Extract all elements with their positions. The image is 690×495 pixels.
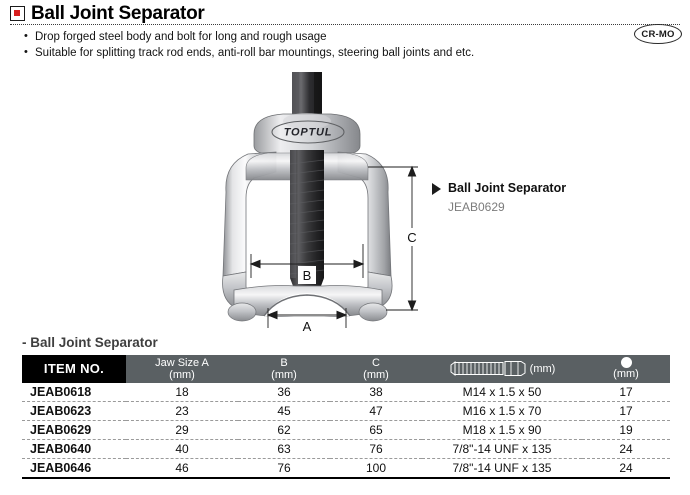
- cell-item-no: JEAB0623: [22, 402, 126, 421]
- column-header-b-label: B: [238, 357, 330, 369]
- ball-joint-separator-illustration: TOPTUL: [190, 72, 460, 334]
- feature-item: Drop forged steel body and bolt for long…: [24, 29, 624, 45]
- callout-product-code: JEAB0629: [448, 199, 566, 215]
- cell-jaw-size: 40: [126, 440, 238, 459]
- cell-hex: 24: [582, 459, 670, 478]
- svg-text:A: A: [303, 319, 312, 334]
- svg-text:C: C: [407, 230, 416, 245]
- cell-b: 76: [238, 459, 330, 478]
- table-row[interactable]: JEAB0646 46 76 100 7/8"-14 UNF x 135 24: [22, 459, 670, 478]
- cell-jaw-size: 29: [126, 421, 238, 440]
- cell-jaw-size: 23: [126, 402, 238, 421]
- threaded-bolt-icon: [449, 361, 527, 376]
- triangle-right-icon: [432, 183, 441, 195]
- cell-thread: 7/8"-14 UNF x 135: [422, 459, 582, 478]
- spec-table-section: - Ball Joint Separator ITEM NO. Jaw Size…: [22, 336, 670, 479]
- table-row[interactable]: JEAB0623 23 45 47 M16 x 1.5 x 70 17: [22, 402, 670, 421]
- product-figure: TOPTUL: [190, 72, 460, 334]
- cell-hex: 17: [582, 383, 670, 402]
- cell-jaw-size: 18: [126, 383, 238, 402]
- cell-b: 36: [238, 383, 330, 402]
- cell-jaw-size: 46: [126, 459, 238, 478]
- page-title: Ball Joint Separator: [31, 4, 205, 23]
- cell-b: 63: [238, 440, 330, 459]
- cell-c: 65: [330, 421, 422, 440]
- column-header-b-unit: (mm): [238, 369, 330, 381]
- cell-hex: 19: [582, 421, 670, 440]
- column-header-item-no: ITEM NO.: [22, 355, 126, 383]
- table-body: JEAB0618 18 36 38 M14 x 1.5 x 50 17 JEAB…: [22, 383, 670, 478]
- spec-table: ITEM NO. Jaw Size A (mm) B (mm) C (mm): [22, 355, 670, 479]
- material-badge: CR-MO: [634, 24, 682, 44]
- callout-text: Ball Joint Separator JEAB0629: [448, 180, 566, 215]
- cell-c: 38: [330, 383, 422, 402]
- hex-circle-icon: [621, 357, 632, 368]
- column-header-hex: (mm): [582, 355, 670, 383]
- column-header-thread-unit: (mm): [530, 363, 556, 375]
- tool-shank: [292, 72, 322, 120]
- title-divider: [10, 24, 680, 25]
- table-header-row: ITEM NO. Jaw Size A (mm) B (mm) C (mm): [22, 355, 670, 383]
- table-caption: - Ball Joint Separator: [22, 336, 670, 351]
- feature-item: Suitable for splitting track rod ends, a…: [24, 45, 624, 61]
- cell-c: 76: [330, 440, 422, 459]
- cell-hex: 17: [582, 402, 670, 421]
- column-header-jaw-size: Jaw Size A (mm): [126, 355, 238, 383]
- cell-c: 47: [330, 402, 422, 421]
- cell-thread: M14 x 1.5 x 50: [422, 383, 582, 402]
- column-header-b: B (mm): [238, 355, 330, 383]
- column-header-thread: (mm): [422, 355, 582, 383]
- feature-list: Drop forged steel body and bolt for long…: [24, 29, 624, 61]
- column-header-c: C (mm): [330, 355, 422, 383]
- cell-item-no: JEAB0618: [22, 383, 126, 402]
- table-row[interactable]: JEAB0640 40 63 76 7/8"-14 UNF x 135 24: [22, 440, 670, 459]
- cell-b: 45: [238, 402, 330, 421]
- column-header-c-label: C: [330, 357, 422, 369]
- product-callout: Ball Joint Separator JEAB0629: [432, 180, 566, 215]
- red-square-icon: [10, 6, 25, 21]
- column-header-hex-unit: (mm): [613, 369, 639, 380]
- cell-item-no: JEAB0640: [22, 440, 126, 459]
- column-header-jaw-size-label: Jaw Size A: [126, 357, 238, 369]
- column-header-c-unit: (mm): [330, 369, 422, 381]
- cell-c: 100: [330, 459, 422, 478]
- cell-item-no: JEAB0629: [22, 421, 126, 440]
- svg-text:B: B: [303, 268, 312, 283]
- cell-thread: M16 x 1.5 x 70: [422, 402, 582, 421]
- cell-item-no: JEAB0646: [22, 459, 126, 478]
- cell-b: 62: [238, 421, 330, 440]
- cell-hex: 24: [582, 440, 670, 459]
- cell-thread: 7/8"-14 UNF x 135: [422, 440, 582, 459]
- title-row: Ball Joint Separator: [10, 4, 205, 23]
- table-row[interactable]: JEAB0618 18 36 38 M14 x 1.5 x 50 17: [22, 383, 670, 402]
- table-row[interactable]: JEAB0629 29 62 65 M18 x 1.5 x 90 19: [22, 421, 670, 440]
- column-header-jaw-size-unit: (mm): [126, 369, 238, 381]
- svg-text:TOPTUL: TOPTUL: [284, 127, 333, 139]
- callout-product-name: Ball Joint Separator: [448, 180, 566, 197]
- page-header: Ball Joint Separator Drop forged steel b…: [0, 0, 690, 70]
- cell-thread: M18 x 1.5 x 90: [422, 421, 582, 440]
